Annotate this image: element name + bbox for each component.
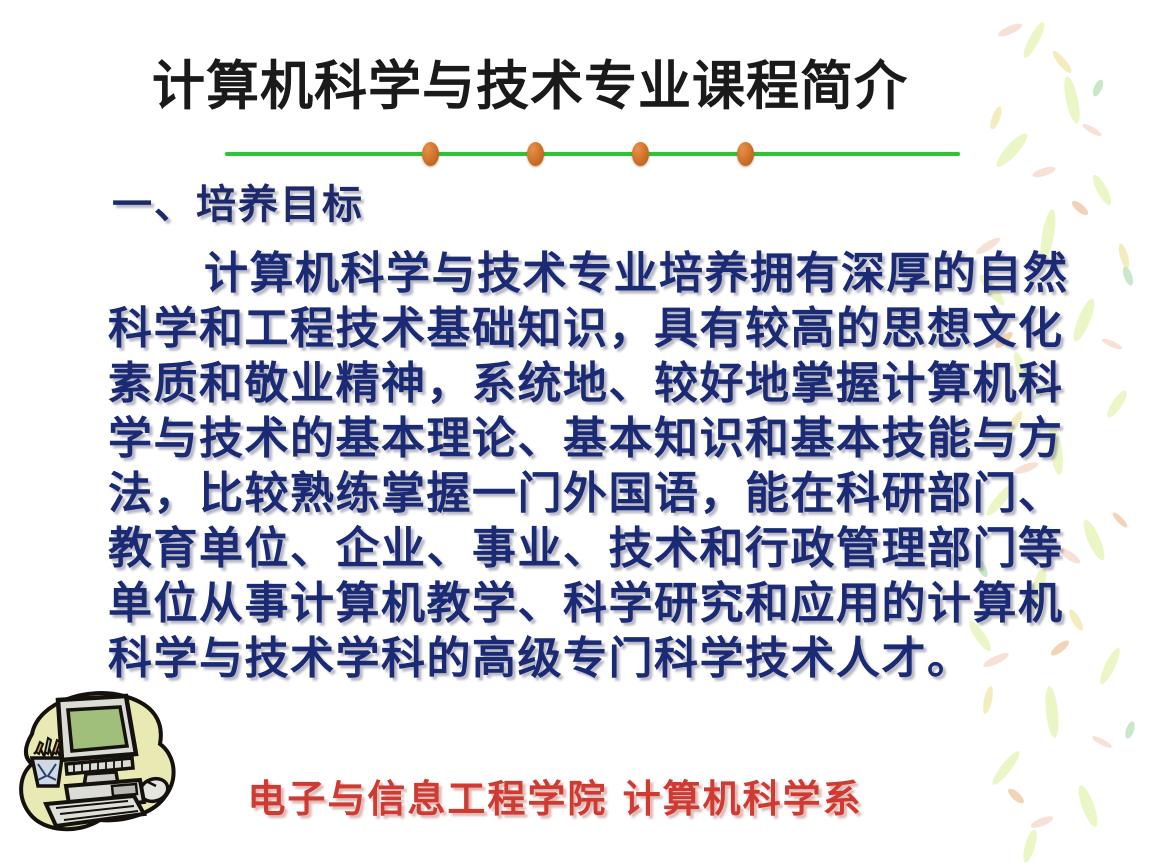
divider-bead-4 (737, 142, 754, 166)
body-line: 教育单位、企业、事业、技术和行政管理部门等 (108, 521, 1088, 576)
body-line: 科学与技术学科的高级专门科学技术人才。 (108, 631, 1088, 686)
decorative-divider (215, 140, 960, 168)
body-line: 计算机科学与技术专业培养拥有深厚的自然 (108, 246, 1088, 301)
body-line: 法，比较熟练掌握一门外国语，能在科研部门、 (108, 466, 1088, 521)
divider-bead-2 (527, 142, 544, 166)
desktop-computer-icon (4, 682, 190, 854)
page-title: 计算机科学与技术专业课程简介 (0, 56, 1060, 118)
body-line: 学与技术的基本理论、基本知识和基本技能与方 (108, 411, 1088, 466)
section-heading: 一、培养目标 (112, 181, 364, 229)
footer-affiliation: 电子与信息工程学院 计算机科学系 (0, 776, 1110, 822)
body-paragraph: 计算机科学与技术专业培养拥有深厚的自然 科学和工程技术基础知识，具有较高的思想文… (108, 246, 1088, 686)
divider-bead-3 (632, 142, 649, 166)
body-line: 单位从事计算机教学、科学研究和应用的计算机 (108, 576, 1088, 631)
body-line: 科学和工程技术基础知识，具有较高的思想文化 (108, 301, 1088, 356)
slide-canvas: 计算机科学与技术专业课程简介 一、培养目标 计算机科学与技术专业培养拥有深厚的自… (0, 0, 1152, 864)
body-line: 素质和敬业精神，系统地、较好地掌握计算机科 (108, 356, 1088, 411)
divider-line (225, 152, 960, 156)
divider-bead-1 (422, 142, 439, 166)
